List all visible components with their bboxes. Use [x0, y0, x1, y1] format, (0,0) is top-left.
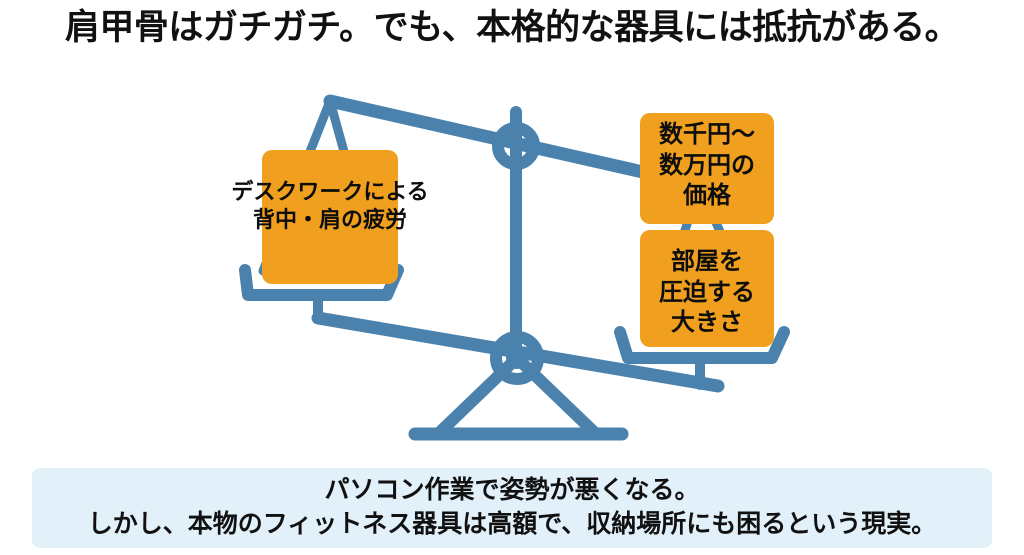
- footer-line-1: パソコン作業で姿勢が悪くなる。: [32, 474, 992, 508]
- left-pan-label-line2: 背中・肩の疲労: [253, 207, 407, 232]
- right-pan-price-line3: 価格: [683, 182, 731, 209]
- right-pan-price-line1: 数千円〜: [659, 121, 755, 148]
- footer-caption: パソコン作業で姿勢が悪くなる。 しかし、本物のフィットネス器具は高額で、収納場所…: [32, 474, 992, 542]
- base-leg-left: [440, 358, 517, 432]
- footer-line-2: しかし、本物のフィットネス器具は高額で、収納場所にも困るという現実。: [32, 508, 992, 542]
- right-pan-size-text: 部屋を 圧迫する 大きさ: [640, 247, 774, 339]
- left-pan-label-text: デスクワークによる 背中・肩の疲労: [150, 178, 510, 234]
- page-title: 肩甲骨はガチガチ。でも、本格的な器具には抵抗がある。: [0, 6, 1024, 50]
- right-pan-size-line3: 大きさ: [671, 309, 743, 336]
- right-pan-price-text: 数千円〜 数万円の 価格: [640, 120, 774, 212]
- right-pan-size-line1: 部屋を: [671, 248, 743, 275]
- right-pan-price-line2: 数万円の: [659, 152, 755, 179]
- base-pivot-ring: [496, 337, 538, 379]
- right-pan-size-line2: 圧迫する: [659, 279, 755, 306]
- top-pivot-ring: [498, 128, 534, 164]
- left-pan-label-line1: デスクワークによる: [231, 179, 428, 204]
- base-leg-right: [517, 358, 594, 432]
- slide-canvas: 肩甲骨はガチガチ。でも、本格的な器具には抵抗がある。: [0, 0, 1024, 555]
- base-pivot-dot: [506, 347, 528, 369]
